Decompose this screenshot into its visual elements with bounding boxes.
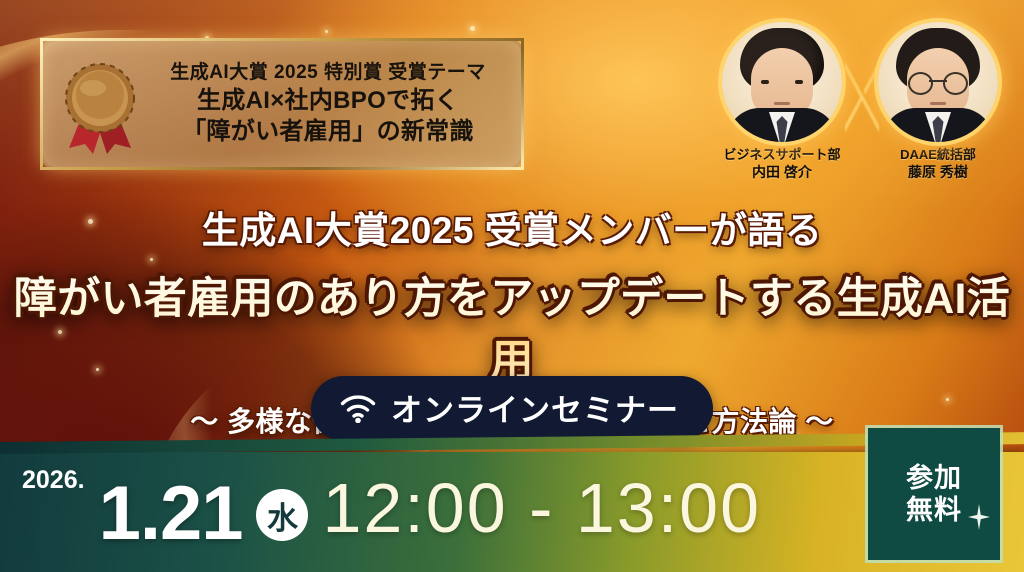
- schedule-year: 2026.: [22, 468, 85, 493]
- award-line-1: 生成AI大賞 2025 特別賞 受賞テーマ: [147, 61, 509, 85]
- speaker-1-dept: ビジネスサポート部: [722, 147, 842, 163]
- avatar-mouth: [930, 102, 946, 105]
- schedule-dayofweek: 水: [256, 489, 308, 541]
- free-admission-badge: 参加 無料: [868, 428, 1000, 560]
- schedule-time: 12:00 - 13:00: [322, 473, 761, 543]
- speaker-1-avatar: [722, 22, 842, 142]
- speaker-2-caption: DAAE統括部 藤原 秀樹: [878, 147, 998, 181]
- seminar-banner: 生成AI大賞 2025 特別賞 受賞テーマ 生成AI×社内BPOで拓く 「障がい…: [0, 0, 1024, 572]
- speakers-separator-icon: [845, 52, 879, 136]
- sparkle-particle: [470, 26, 475, 31]
- free-admission-line-2: 無料: [906, 495, 962, 525]
- avatar-glasses-icon: [908, 72, 968, 92]
- free-admission-line-1: 参加: [906, 463, 962, 493]
- online-seminar-pill: オンラインセミナー: [311, 376, 713, 441]
- avatar-mouth: [774, 102, 790, 105]
- schedule-monthday: 1.21: [99, 479, 243, 549]
- award-badge: 生成AI大賞 2025 特別賞 受賞テーマ 生成AI×社内BPOで拓く 「障がい…: [40, 38, 524, 170]
- speaker-1-caption: ビジネスサポート部 内田 啓介: [722, 147, 842, 181]
- gold-medal-icon: [55, 52, 147, 156]
- speaker-1: ビジネスサポート部 内田 啓介: [722, 22, 842, 181]
- speakers-group: ビジネスサポート部 内田 啓介 DAAE統括部 藤原 秀樹: [712, 22, 1008, 197]
- speaker-2-name: 藤原 秀樹: [878, 163, 998, 181]
- award-text: 生成AI大賞 2025 特別賞 受賞テーマ 生成AI×社内BPOで拓く 「障がい…: [147, 61, 521, 147]
- title-line-2: 障がい者雇用のあり方をアップデートする生成AI活用: [0, 264, 1024, 388]
- free-admission-badge-inner: 参加 無料: [868, 428, 1000, 560]
- online-seminar-label: オンラインセミナー: [391, 385, 679, 430]
- avatar-eye-left: [761, 80, 769, 84]
- speaker-2: DAAE統括部 藤原 秀樹: [878, 22, 998, 181]
- award-line-2: 生成AI×社内BPOで拓く: [147, 85, 509, 116]
- award-line-3: 「障がい者雇用」の新常識: [147, 116, 509, 147]
- speaker-2-avatar: [878, 22, 998, 142]
- wifi-icon: [339, 393, 377, 423]
- speaker-1-name: 内田 啓介: [722, 163, 842, 181]
- speaker-2-dept: DAAE統括部: [878, 147, 998, 163]
- sparkle-particle: [325, 30, 328, 33]
- avatar-eye-right: [795, 80, 803, 84]
- schedule-bar: 2026. 1.21 水 12:00 - 13:00 参加 無料: [0, 452, 1024, 572]
- schedule-date-group: 2026. 1.21 水 12:00 - 13:00: [22, 468, 761, 549]
- title-line-1: 生成AI大賞2025 受賞メンバーが語る: [0, 200, 1024, 254]
